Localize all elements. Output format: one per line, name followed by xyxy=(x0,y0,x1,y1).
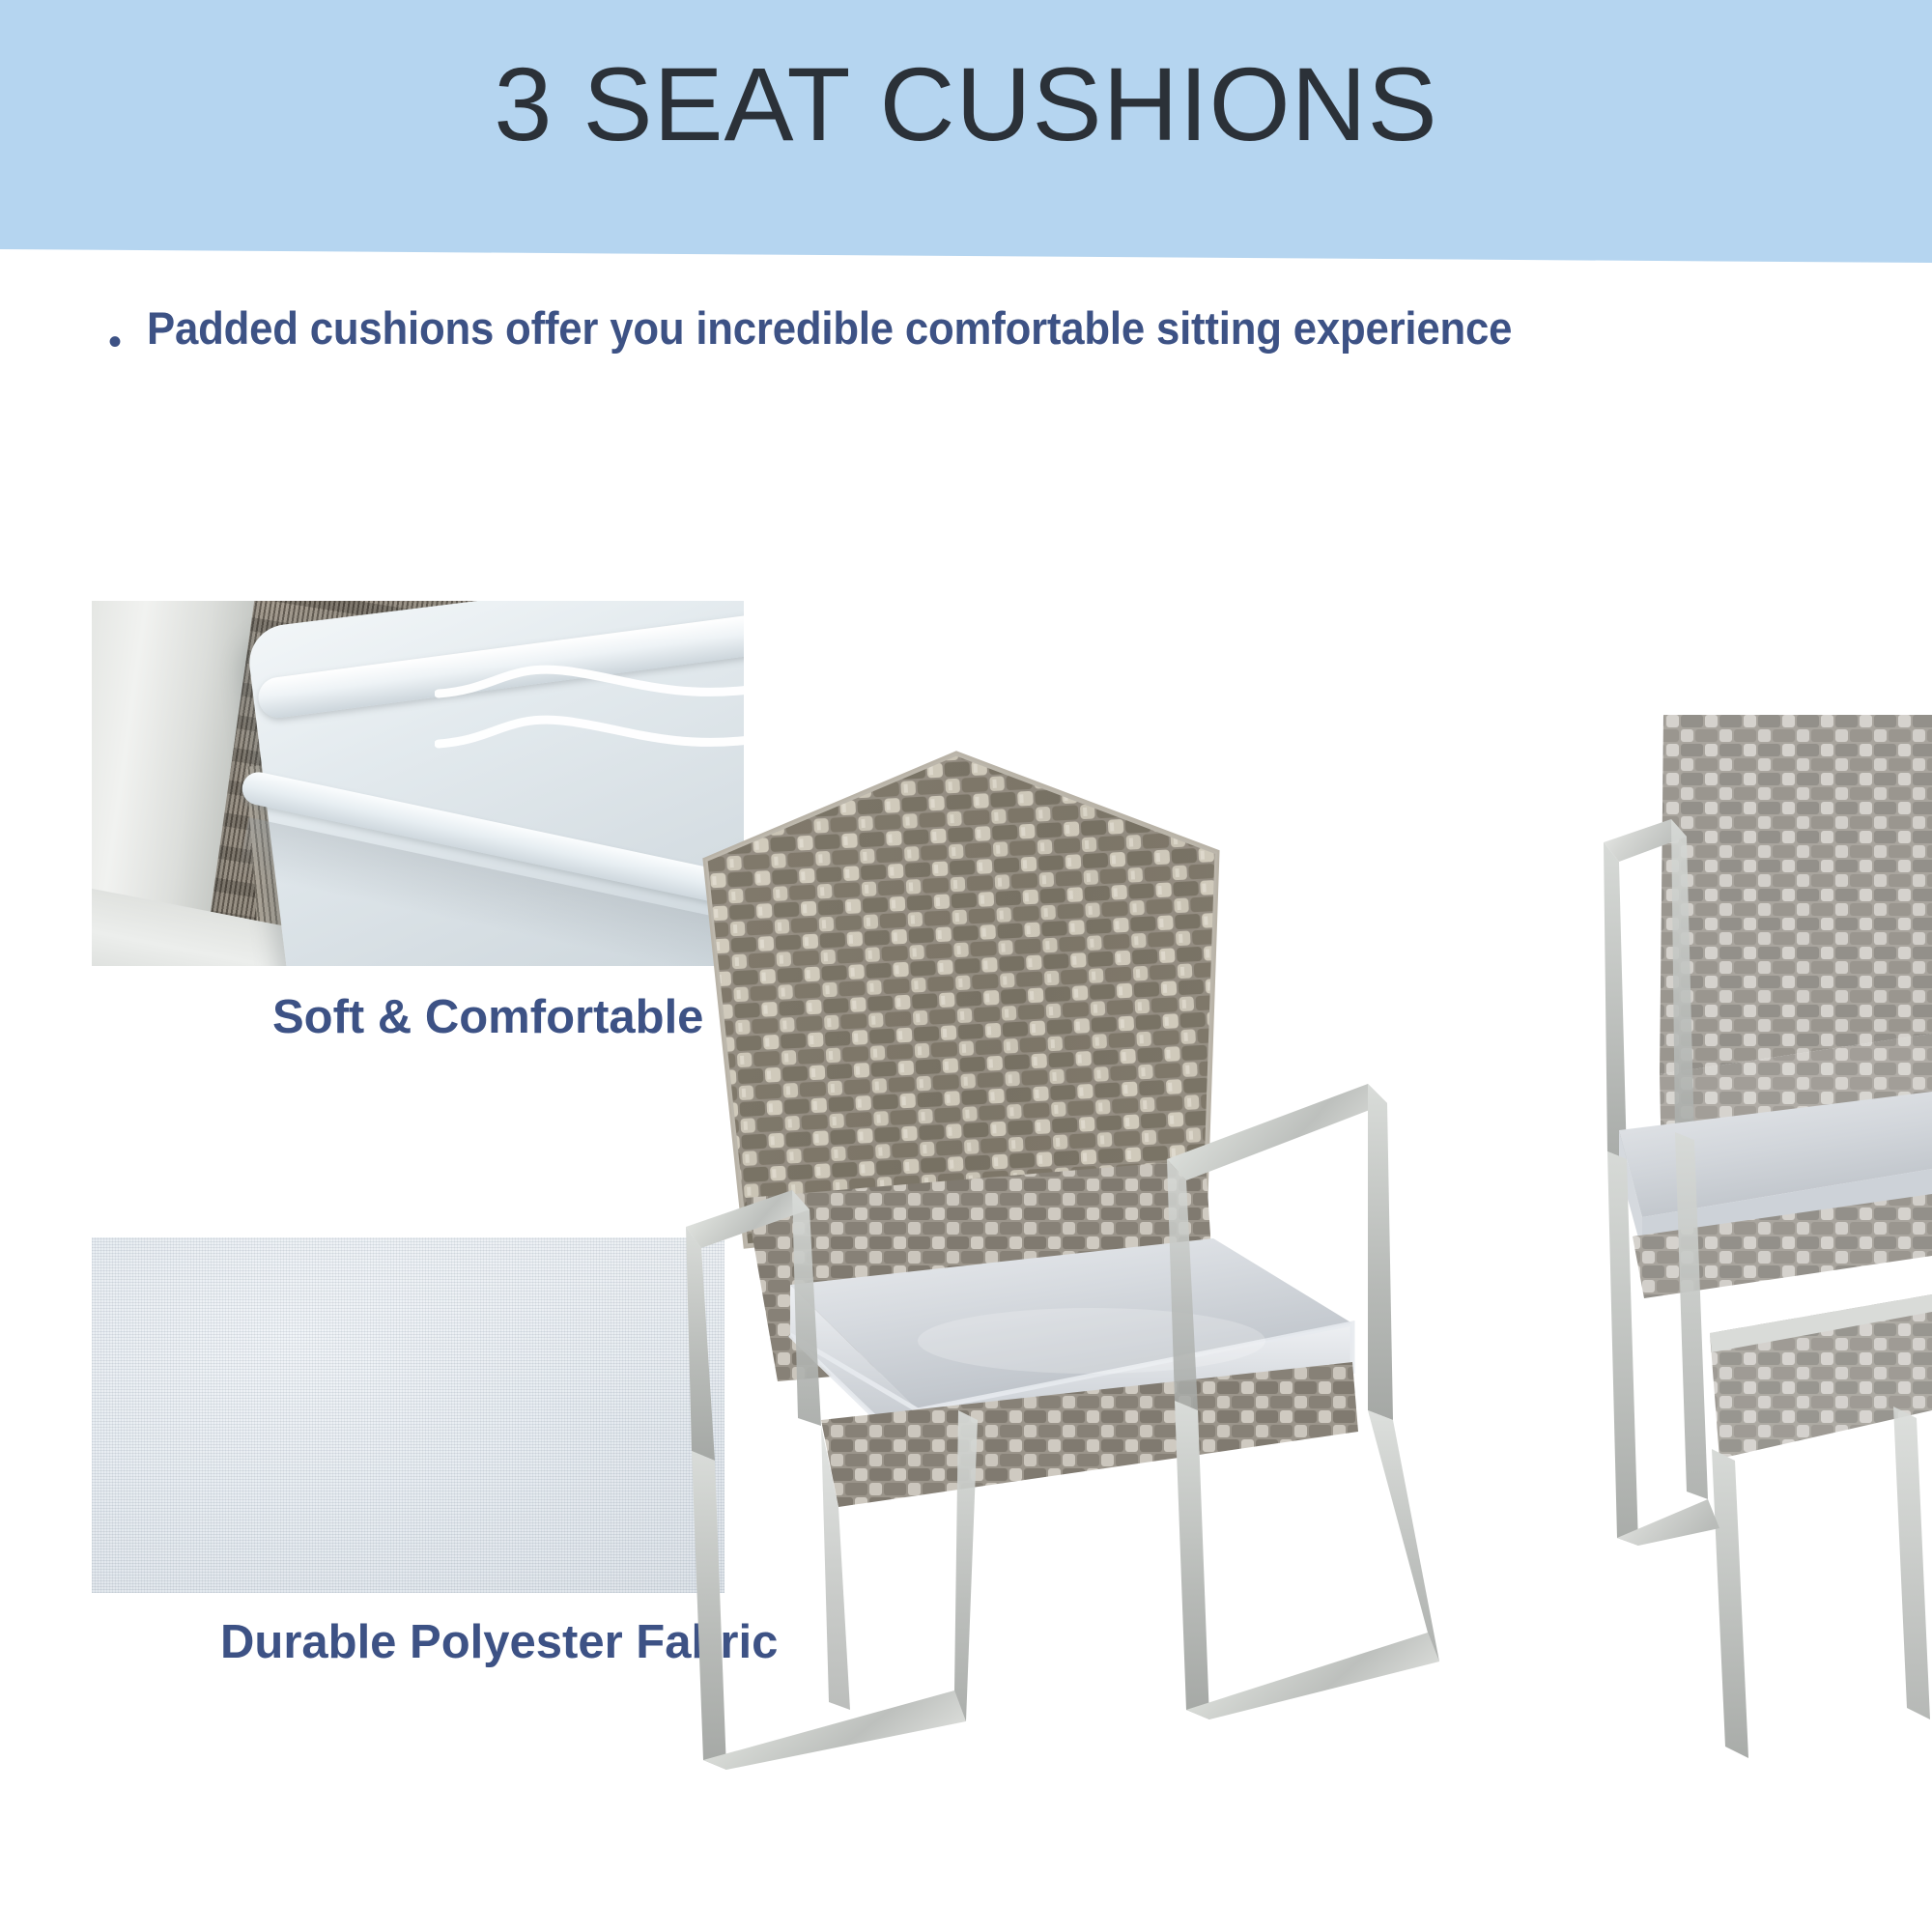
secondary-chair-backrest xyxy=(1660,715,1932,1074)
feature-bullet-row: • Padded cushions offer you incredible c… xyxy=(108,301,1750,361)
product-photo-secondary-chair xyxy=(1604,715,1932,1806)
woven-side-table xyxy=(1710,1294,1932,1758)
page-title: 3 SEAT CUSHIONS xyxy=(0,44,1932,164)
feature-bullet-text: Padded cushions offer you incredible com… xyxy=(147,301,1512,355)
inset-photo-fabric-swatch xyxy=(92,1237,724,1593)
fabric-sheen-highlight xyxy=(92,1237,724,1451)
secondary-chair-armrest xyxy=(1604,819,1694,1159)
bullet-marker-icon: • xyxy=(108,323,122,361)
main-chair-svg xyxy=(676,744,1468,1845)
product-photo-main-chair xyxy=(676,744,1468,1845)
secondary-chair-svg xyxy=(1604,715,1932,1806)
